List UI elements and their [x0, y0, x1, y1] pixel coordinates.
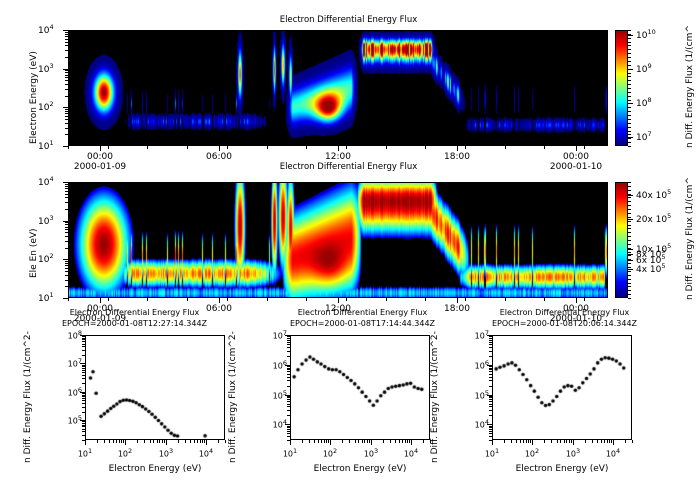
spectrum-xtick-minor	[516, 440, 517, 443]
spectrum-ytick-minor	[489, 431, 492, 432]
spectrum-xtick-minor	[560, 440, 561, 443]
spectrum-xtick-minor	[585, 440, 586, 443]
spectrum-ytick-minor	[489, 371, 492, 372]
spectrum-xtick-major	[492, 440, 493, 445]
spectrum-xtick-minor	[571, 440, 572, 443]
spectrum-ytick-minor	[489, 377, 492, 378]
spectrum-ytick-minor	[489, 436, 492, 437]
spectrum-ytick-minor	[489, 397, 492, 398]
spectrum-xtick-minor	[564, 440, 565, 443]
spectrum-ytick-label-2: 105	[459, 389, 489, 401]
spectrum-ytick-label-3: 104	[459, 418, 489, 430]
spectrum-ytick-minor	[489, 426, 492, 427]
spectrum-xtick-label-3: 104	[598, 447, 628, 459]
spectrum-ytick-minor	[489, 368, 492, 369]
spectrum-xtick-minor	[526, 440, 527, 443]
spectrum-xtick-minor	[523, 440, 524, 443]
spectrum-xtick-minor	[557, 440, 558, 443]
spectrum-xtick-minor	[528, 440, 529, 443]
spectrum-xtick-label-0: 101	[477, 447, 507, 459]
spectrum-xtick-minor	[597, 440, 598, 443]
spectrum-ytick-minor	[489, 347, 492, 348]
spectrum-xtick-minor	[566, 440, 567, 443]
spectrum-ytick-minor	[489, 433, 492, 434]
spectrum-xtick-minor	[604, 440, 605, 443]
spectrum-xtick-minor	[551, 440, 552, 443]
spectrum-ytick-label-0: 107	[459, 329, 489, 341]
spectrum-xtick-minor	[607, 440, 608, 443]
spectrum-xtick-minor	[601, 440, 602, 443]
spectrum-xtick-label-2: 103	[558, 447, 588, 459]
spectrum-ytick-minor	[489, 427, 492, 428]
spectrum-xtick-minor	[544, 440, 545, 443]
spectrum-ytick-minor	[489, 429, 492, 430]
spectrum-ytick-minor	[489, 338, 492, 339]
spectrum-xtick-minor	[511, 440, 512, 443]
spectrum-ytick-minor	[489, 356, 492, 357]
spectrum-ytick-minor	[489, 401, 492, 402]
spectrum-ytick-minor	[489, 342, 492, 343]
spectrum-ytick-minor	[489, 340, 492, 341]
spectrum-ytick-minor	[489, 396, 492, 397]
spectrum-ytick-minor	[489, 351, 492, 352]
spectrum-xtick-minor	[569, 440, 570, 443]
spectrum-ytick-minor	[489, 406, 492, 407]
spectrum-xtick-minor	[504, 440, 505, 443]
spectrum-ytick-minor	[489, 369, 492, 370]
spectrum-ytick-minor	[489, 380, 492, 381]
spectrum-xtick-major	[613, 440, 614, 445]
spectrum-xtick-label-1: 102	[517, 447, 547, 459]
spectrum-xtick-minor	[592, 440, 593, 443]
spectrum-xtick-minor	[609, 440, 610, 443]
spectrum-right-ticks: 107106105104101102103104	[0, 0, 697, 492]
spectrum-ytick-minor	[489, 410, 492, 411]
spectrum-ytick-minor	[489, 415, 492, 416]
spectrum-xtick-minor	[625, 440, 626, 443]
spectrum-xtick-major	[573, 440, 574, 445]
spectrum-xtick-minor	[632, 440, 633, 443]
spectrum-xtick-minor	[611, 440, 612, 443]
spectrum-ytick-minor	[489, 399, 492, 400]
spectrum-ytick-minor	[489, 336, 492, 337]
spectrum-ytick-label-1: 106	[459, 359, 489, 371]
spectrum-xtick-minor	[530, 440, 531, 443]
spectrum-xtick-major	[532, 440, 533, 445]
spectrum-ytick-minor	[489, 374, 492, 375]
spectrum-ytick-minor	[489, 386, 492, 387]
spectrum-ytick-minor	[489, 366, 492, 367]
spectrum-ytick-minor	[489, 404, 492, 405]
spectrum-xtick-minor	[520, 440, 521, 443]
spectrum-ytick-minor	[489, 344, 492, 345]
